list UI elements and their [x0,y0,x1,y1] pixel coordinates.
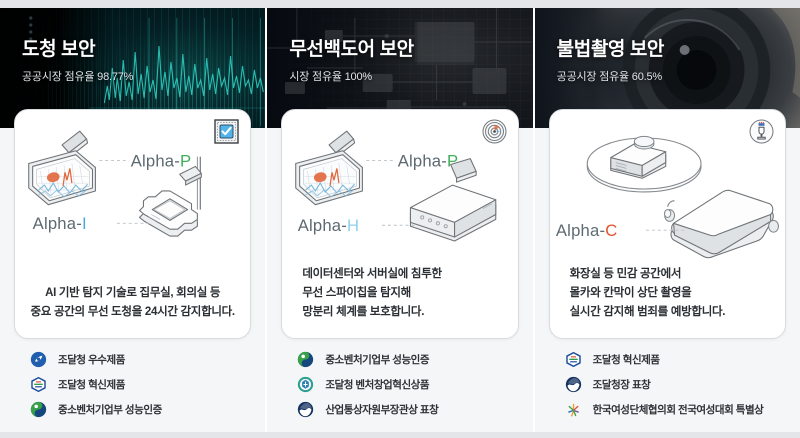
product-showcase-page: 도청 보안 공공시장 점유율 98.77% [0,0,800,438]
description-line: 몰카와 칸막이 상단 촬영을 [570,284,785,303]
alpha-p-label: Alpha-P [398,151,459,170]
description-line: AI 기반 탐지 기술로 집무실, 회의실 등 [15,284,250,303]
card-wireless-backdoor-security[interactable]: 무선백도어 보안 시장 점유율 100% [265,8,532,438]
women-council-icon [565,401,582,418]
innovation-product-icon [565,351,582,368]
smba-performance-icon [30,401,47,418]
certification-label: 조달청 우수제품 [58,352,125,367]
description-line: 중요 공간의 무선 도청을 24시간 감지합니다. [15,303,250,322]
product-panel: Alpha-C 화장실 등 민감 공간에서 몰카와 칸막이 상단 촬영을 실시간… [549,109,786,339]
certification-label: 조달청 혁신제품 [593,352,660,367]
alpha-c-ceiling-device [587,136,701,192]
venture-startup-icon [297,376,314,393]
hero-text-block: 도청 보안 공공시장 점유율 98.77% [22,34,133,84]
card-illegal-filming-security[interactable]: 불법촬영 보안 공공시장 점유율 60.5% [533,8,800,438]
excellent-product-icon [30,351,47,368]
certification-label: 중소벤처기업부 성능인증 [325,352,429,367]
description-line: 망분리 체계를 보호합니다. [302,303,517,322]
certification-item: 한국여성단체협의회 전국여성대회 특별상 [565,398,800,421]
description-line: 데이터센터와 서버실에 침투한 [302,265,517,284]
certification-item: 중소벤처기업부 성능인증 [297,348,532,371]
certification-item: 조달청 우수제품 [30,348,265,371]
hero-title: 도청 보안 [22,34,133,61]
certification-item: 조달청 혁신제품 [565,348,800,371]
checkbox-certified-icon [214,119,239,144]
hero-subtitle: 시장 점유율 100% [289,68,413,84]
certification-label: 중소벤처기업부 성능인증 [58,402,162,417]
description-line: 무선 스파이칩을 탐지해 [302,284,517,303]
hero-subtitle: 공공시장 점유율 98.77% [22,68,133,84]
product-panel: Alpha-P [14,109,251,339]
hero-text-block: 불법촬영 보안 공공시장 점유율 60.5% [557,34,664,84]
certification-list: 중소벤처기업부 성능인증 조달청 벤처창업혁신상품 산업통상자원부장관상 표창 [267,348,532,423]
certification-label: 산업통상자원부장관상 표창 [325,402,438,417]
alpha-h-device [411,159,496,241]
card-row: 도청 보안 공공시장 점유율 98.77% [0,8,800,438]
alpha-i-label: Alpha-I [33,214,87,233]
card-description: 데이터센터와 서버실에 침투한 무선 스파이칩을 탐지해 망분리 체계를 보호합… [282,265,517,322]
ppsa-award-icon [565,376,582,393]
hero-text-block: 무선백도어 보안 시장 점유율 100% [289,34,413,84]
certification-item: 산업통상자원부장관상 표창 [297,398,532,421]
certification-item: 조달청 혁신제품 [30,373,265,396]
card-description: 화장실 등 민감 공간에서 몰카와 칸막이 상단 촬영을 실시간 감지해 범죄를… [550,265,785,322]
alpha-h-label: Alpha-H [298,216,360,235]
alpha-p-device [29,131,96,205]
certification-label: 조달청 벤처창업혁신상품 [325,377,429,392]
card-description: AI 기반 탐지 기술로 집무실, 회의실 등 중요 공간의 무선 도청을 24… [15,284,250,322]
card-eavesdropping-security[interactable]: 도청 보안 공공시장 점유율 98.77% [0,8,265,438]
certification-item: 조달청 벤처창업혁신상품 [297,373,532,396]
radar-scan-icon [482,119,507,144]
description-line: 화장실 등 민감 공간에서 [570,265,785,284]
certification-list: 조달청 우수제품 조달청 혁신제품 중소벤처기업부 성능인증 [0,348,265,423]
bottom-strip [0,432,800,438]
product-panel: Alpha-P [281,109,518,339]
certification-label: 조달청장 표창 [593,377,651,392]
certification-list: 조달청 혁신제품 조달청장 표창 [535,348,800,423]
certification-label: 한국여성단체협의회 전국여성대회 특별상 [593,402,764,417]
certification-item: 조달청장 표창 [565,373,800,396]
top-strip [0,0,800,8]
alpha-p-label: Alpha-P [131,151,192,170]
certification-item: 중소벤처기업부 성능인증 [30,398,265,421]
alpha-c-box-device [664,190,778,257]
hero-subtitle: 공공시장 점유율 60.5% [557,68,664,84]
smba-performance-icon [297,351,314,368]
certification-label: 조달청 혁신제품 [58,377,125,392]
hero-title: 무선백도어 보안 [289,34,413,61]
hero-title: 불법촬영 보안 [557,34,664,61]
restroom-icon [749,119,774,144]
alpha-p-device [296,131,363,205]
motie-award-icon [297,401,314,418]
alpha-c-label: Alpha-C [556,221,618,240]
description-line: 실시간 감지해 범죄를 예방합니다. [570,303,785,322]
innovation-product-icon [30,376,47,393]
